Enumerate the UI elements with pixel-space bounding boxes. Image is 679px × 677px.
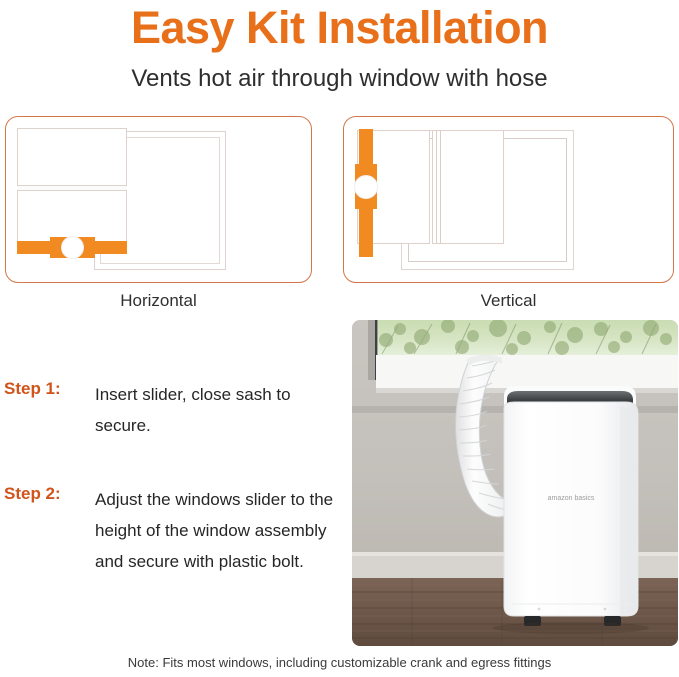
- installation-photo: amazon basics: [352, 320, 678, 646]
- upper-sash: [17, 128, 127, 189]
- photo-illustration: amazon basics: [352, 320, 678, 646]
- brand-logo-text: amazon basics: [548, 495, 595, 502]
- panel-caption-vertical: Vertical: [343, 291, 674, 311]
- step-1-label: Step 1:: [4, 379, 61, 399]
- sliding-sash-right: [432, 130, 504, 244]
- page-subtitle: Vents hot air through window with hose: [0, 64, 679, 94]
- plastic-bolt-knob-icon: [354, 175, 378, 199]
- portable-ac-unit: amazon basics: [493, 386, 649, 634]
- diagram-panel-vertical: [343, 116, 674, 283]
- step-1-text: Insert slider, close sash to secure.: [95, 379, 340, 441]
- sash-meeting-line-2: [440, 130, 441, 244]
- page-title: Easy Kit Installation: [0, 2, 679, 54]
- plastic-bolt-knob-icon: [61, 236, 84, 259]
- step-2-label: Step 2:: [4, 484, 61, 504]
- panel-caption-horizontal: Horizontal: [5, 291, 312, 311]
- footnote-text: Note: Fits most windows, including custo…: [0, 655, 679, 670]
- sash-meeting-line-1: [436, 130, 437, 244]
- step-2-text: Adjust the windows slider to the height …: [95, 484, 340, 577]
- diagram-panel-horizontal: [5, 116, 312, 283]
